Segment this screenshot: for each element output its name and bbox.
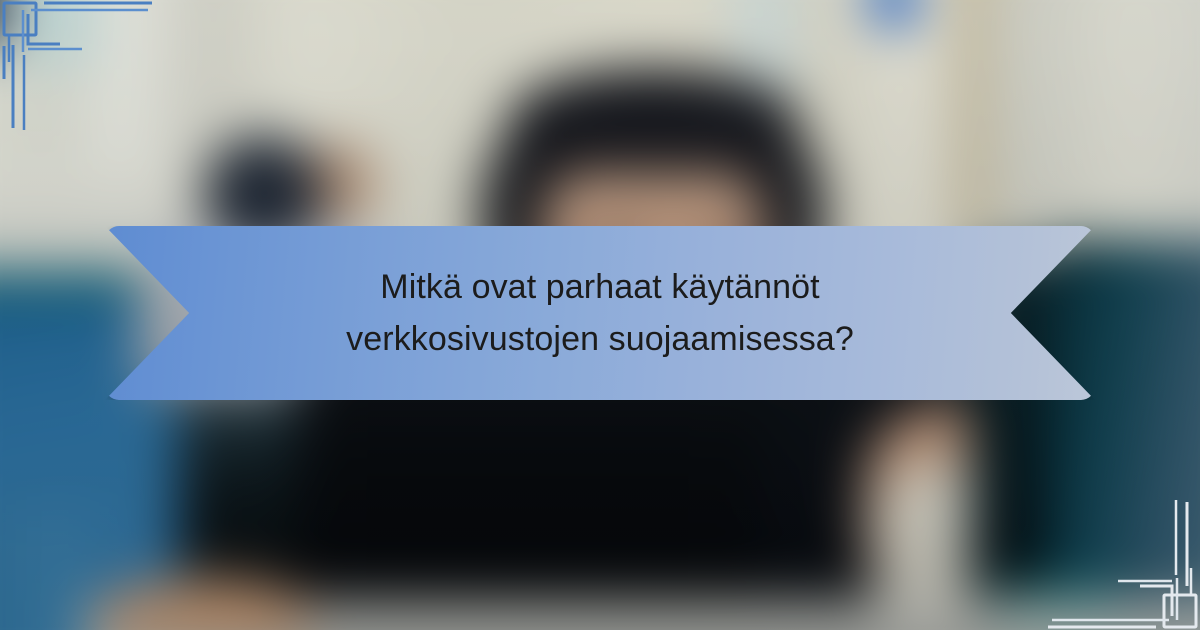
headline-line-1: Mitkä ovat parhaat käytännöt [380, 265, 819, 310]
headline-ribbon: Mitkä ovat parhaat käytännöt verkkosivus… [105, 226, 1095, 400]
social-card: Mitkä ovat parhaat käytännöt verkkosivus… [0, 0, 1200, 630]
headline-line-2: verkkosivustojen suojaamisessa? [346, 317, 854, 362]
headline-text-block: Mitkä ovat parhaat käytännöt verkkosivus… [105, 226, 1095, 400]
